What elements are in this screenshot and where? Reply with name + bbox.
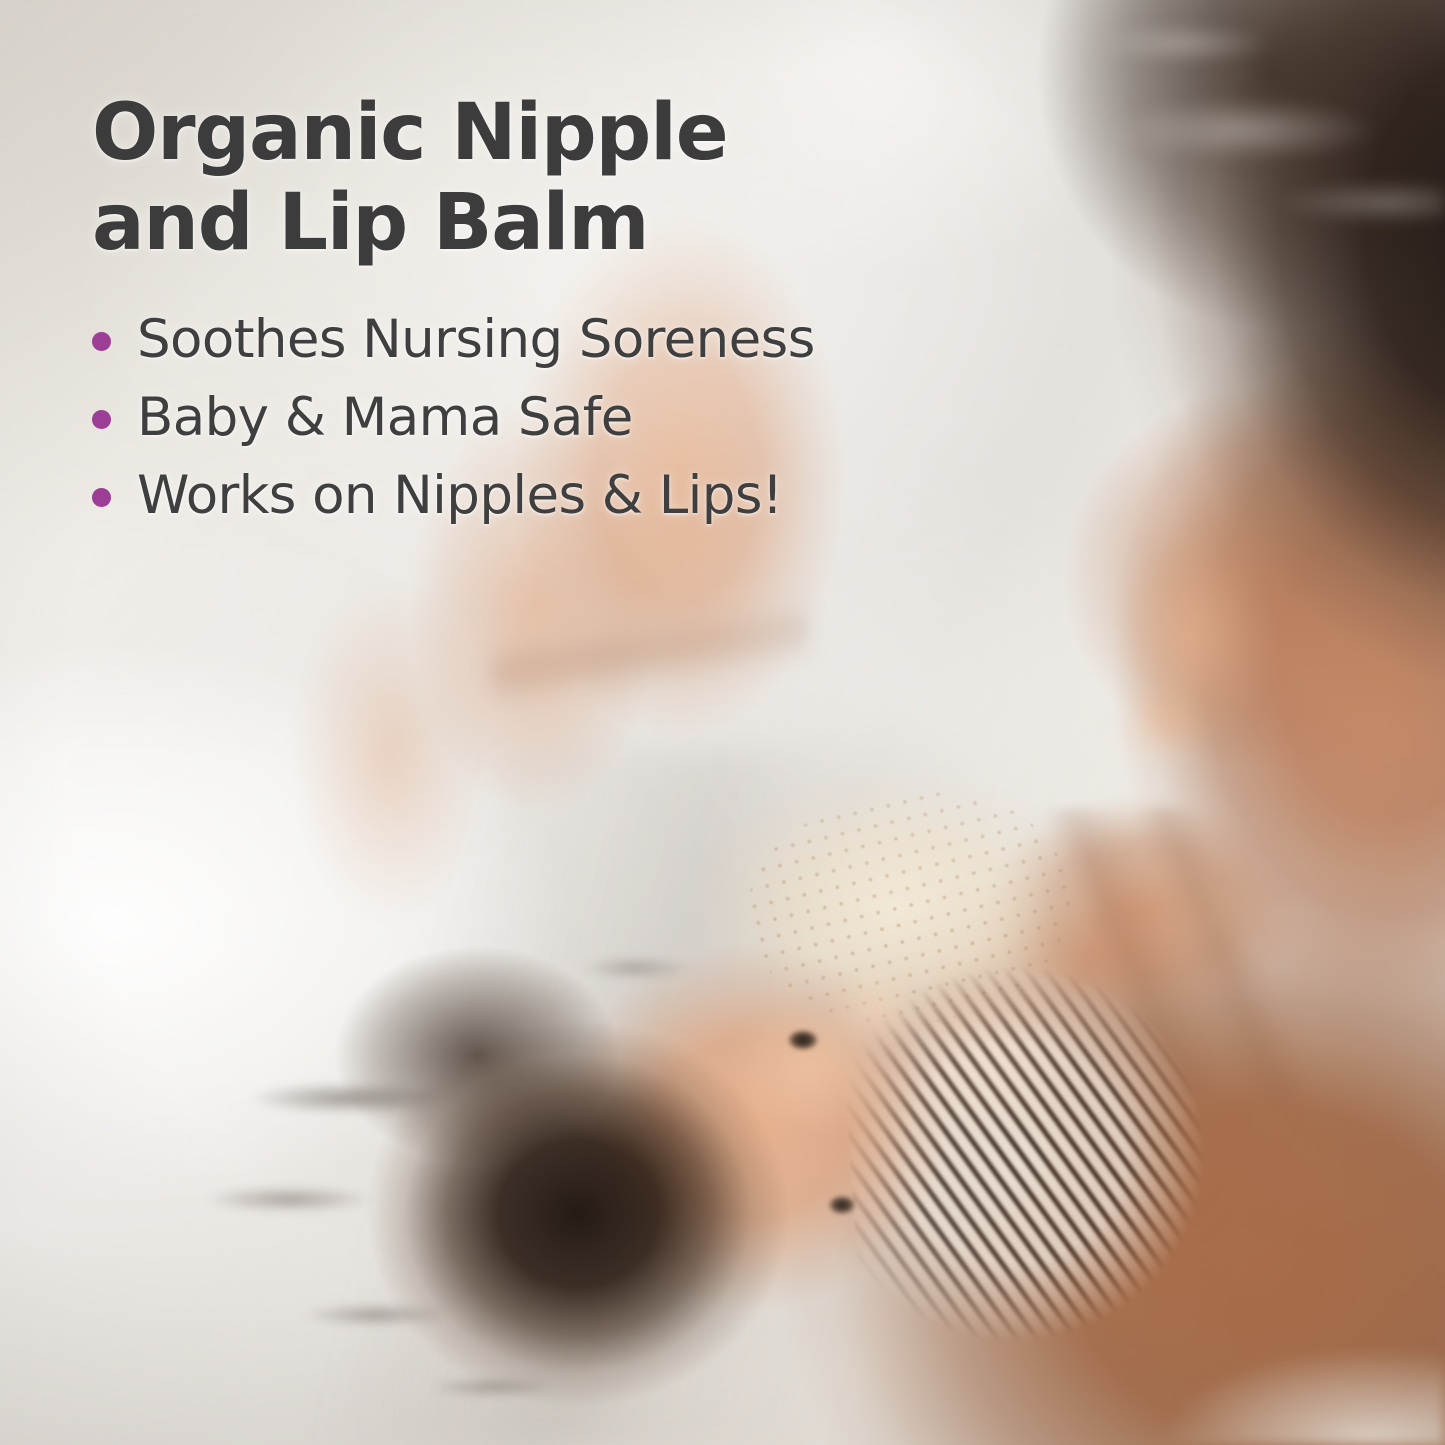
benefit-label-works-on-nipples-and-lips: Works on Nipples & Lips! <box>137 468 783 523</box>
mother-fingers <box>0 809 1445 1098</box>
list-item: Soothes Nursing Soreness <box>92 309 992 371</box>
product-marketing-image: Organic Nipple and Lip Balm Soothes Nurs… <box>0 0 1445 1445</box>
bullet-dot-icon <box>92 488 111 507</box>
benefits-list: Soothes Nursing Soreness Baby & Mama Saf… <box>92 309 992 527</box>
page-title: Organic Nipple and Lip Balm <box>92 88 992 269</box>
mother-striped-top <box>836 939 1303 1445</box>
list-item: Baby & Mama Safe <box>92 387 992 449</box>
bullet-dot-icon <box>92 332 111 351</box>
benefit-label-baby-and-mama-safe: Baby & Mama Safe <box>137 390 633 445</box>
benefit-label-soothes-nursing-soreness: Soothes Nursing Soreness <box>137 312 815 367</box>
list-item: Works on Nipples & Lips! <box>92 465 992 527</box>
bullet-dot-icon <box>92 410 111 429</box>
marketing-copy-block: Organic Nipple and Lip Balm Soothes Nurs… <box>92 88 992 543</box>
bed-edge-line <box>0 751 1445 1445</box>
baby-eye-lower <box>829 1196 855 1214</box>
baby-onesie-polka-dots <box>729 762 1091 1059</box>
baby-eye <box>788 1030 818 1050</box>
